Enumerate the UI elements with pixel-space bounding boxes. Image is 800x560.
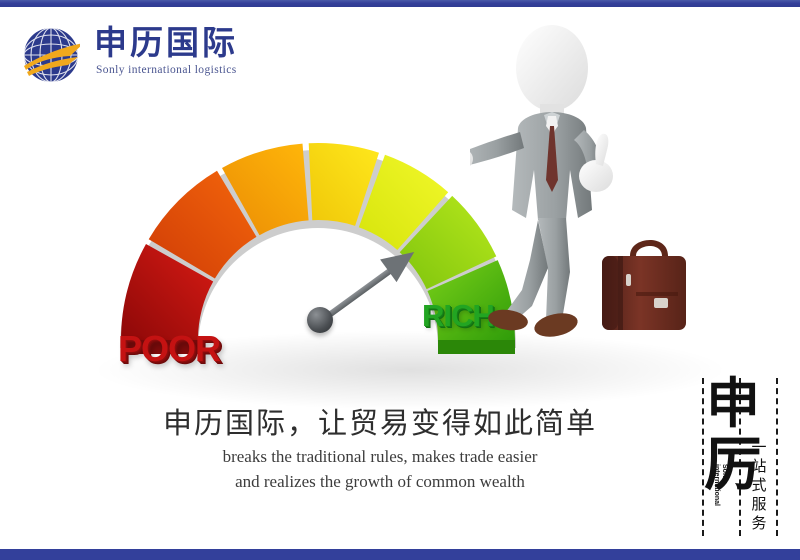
- caption-block: 申历国际，让贸易变得如此简单 breaks the traditional ru…: [0, 404, 760, 494]
- brand-name-cn: 申历国际: [94, 22, 238, 66]
- brand-tagline-en: Sonly international logistics: [96, 64, 237, 76]
- seal-service-char-1: 一: [746, 438, 772, 457]
- gauge-label-poor: POOR: [118, 328, 220, 370]
- seal-english-line2: international: [712, 464, 720, 520]
- seal-service-char-2: 站: [746, 457, 772, 476]
- seal-service-char-5: 务: [746, 514, 772, 533]
- caption-english-line1: breaks the traditional rules, makes trad…: [0, 444, 760, 469]
- seal-char-top: 申: [706, 374, 760, 434]
- caption-english-line2: and realizes the growth of common wealth: [0, 469, 760, 494]
- gauge-hub: [307, 307, 333, 333]
- seal-guide-line-right: [776, 378, 778, 536]
- poster-canvas: 申历国际 Sonly international logistics: [0, 0, 800, 560]
- brand-logo[interactable]: 申历国际 Sonly international logistics: [22, 24, 252, 86]
- caption-chinese: 申历国际，让贸易变得如此简单: [0, 404, 760, 444]
- bottom-rule: [0, 549, 800, 560]
- seal-english: Sonly international: [712, 464, 728, 520]
- briefcase: [596, 230, 692, 336]
- top-rule: [0, 0, 800, 7]
- seal-service-column: 一 站 式 服 务: [746, 438, 772, 533]
- seal-service-char-3: 式: [746, 476, 772, 495]
- seal-english-line1: Sonly: [720, 464, 728, 520]
- globe-logo-icon: [22, 26, 80, 84]
- seal-service-char-4: 服: [746, 495, 772, 514]
- seal-watermark: 申 厉 一 站 式 服 务 Sonly international: [702, 378, 778, 536]
